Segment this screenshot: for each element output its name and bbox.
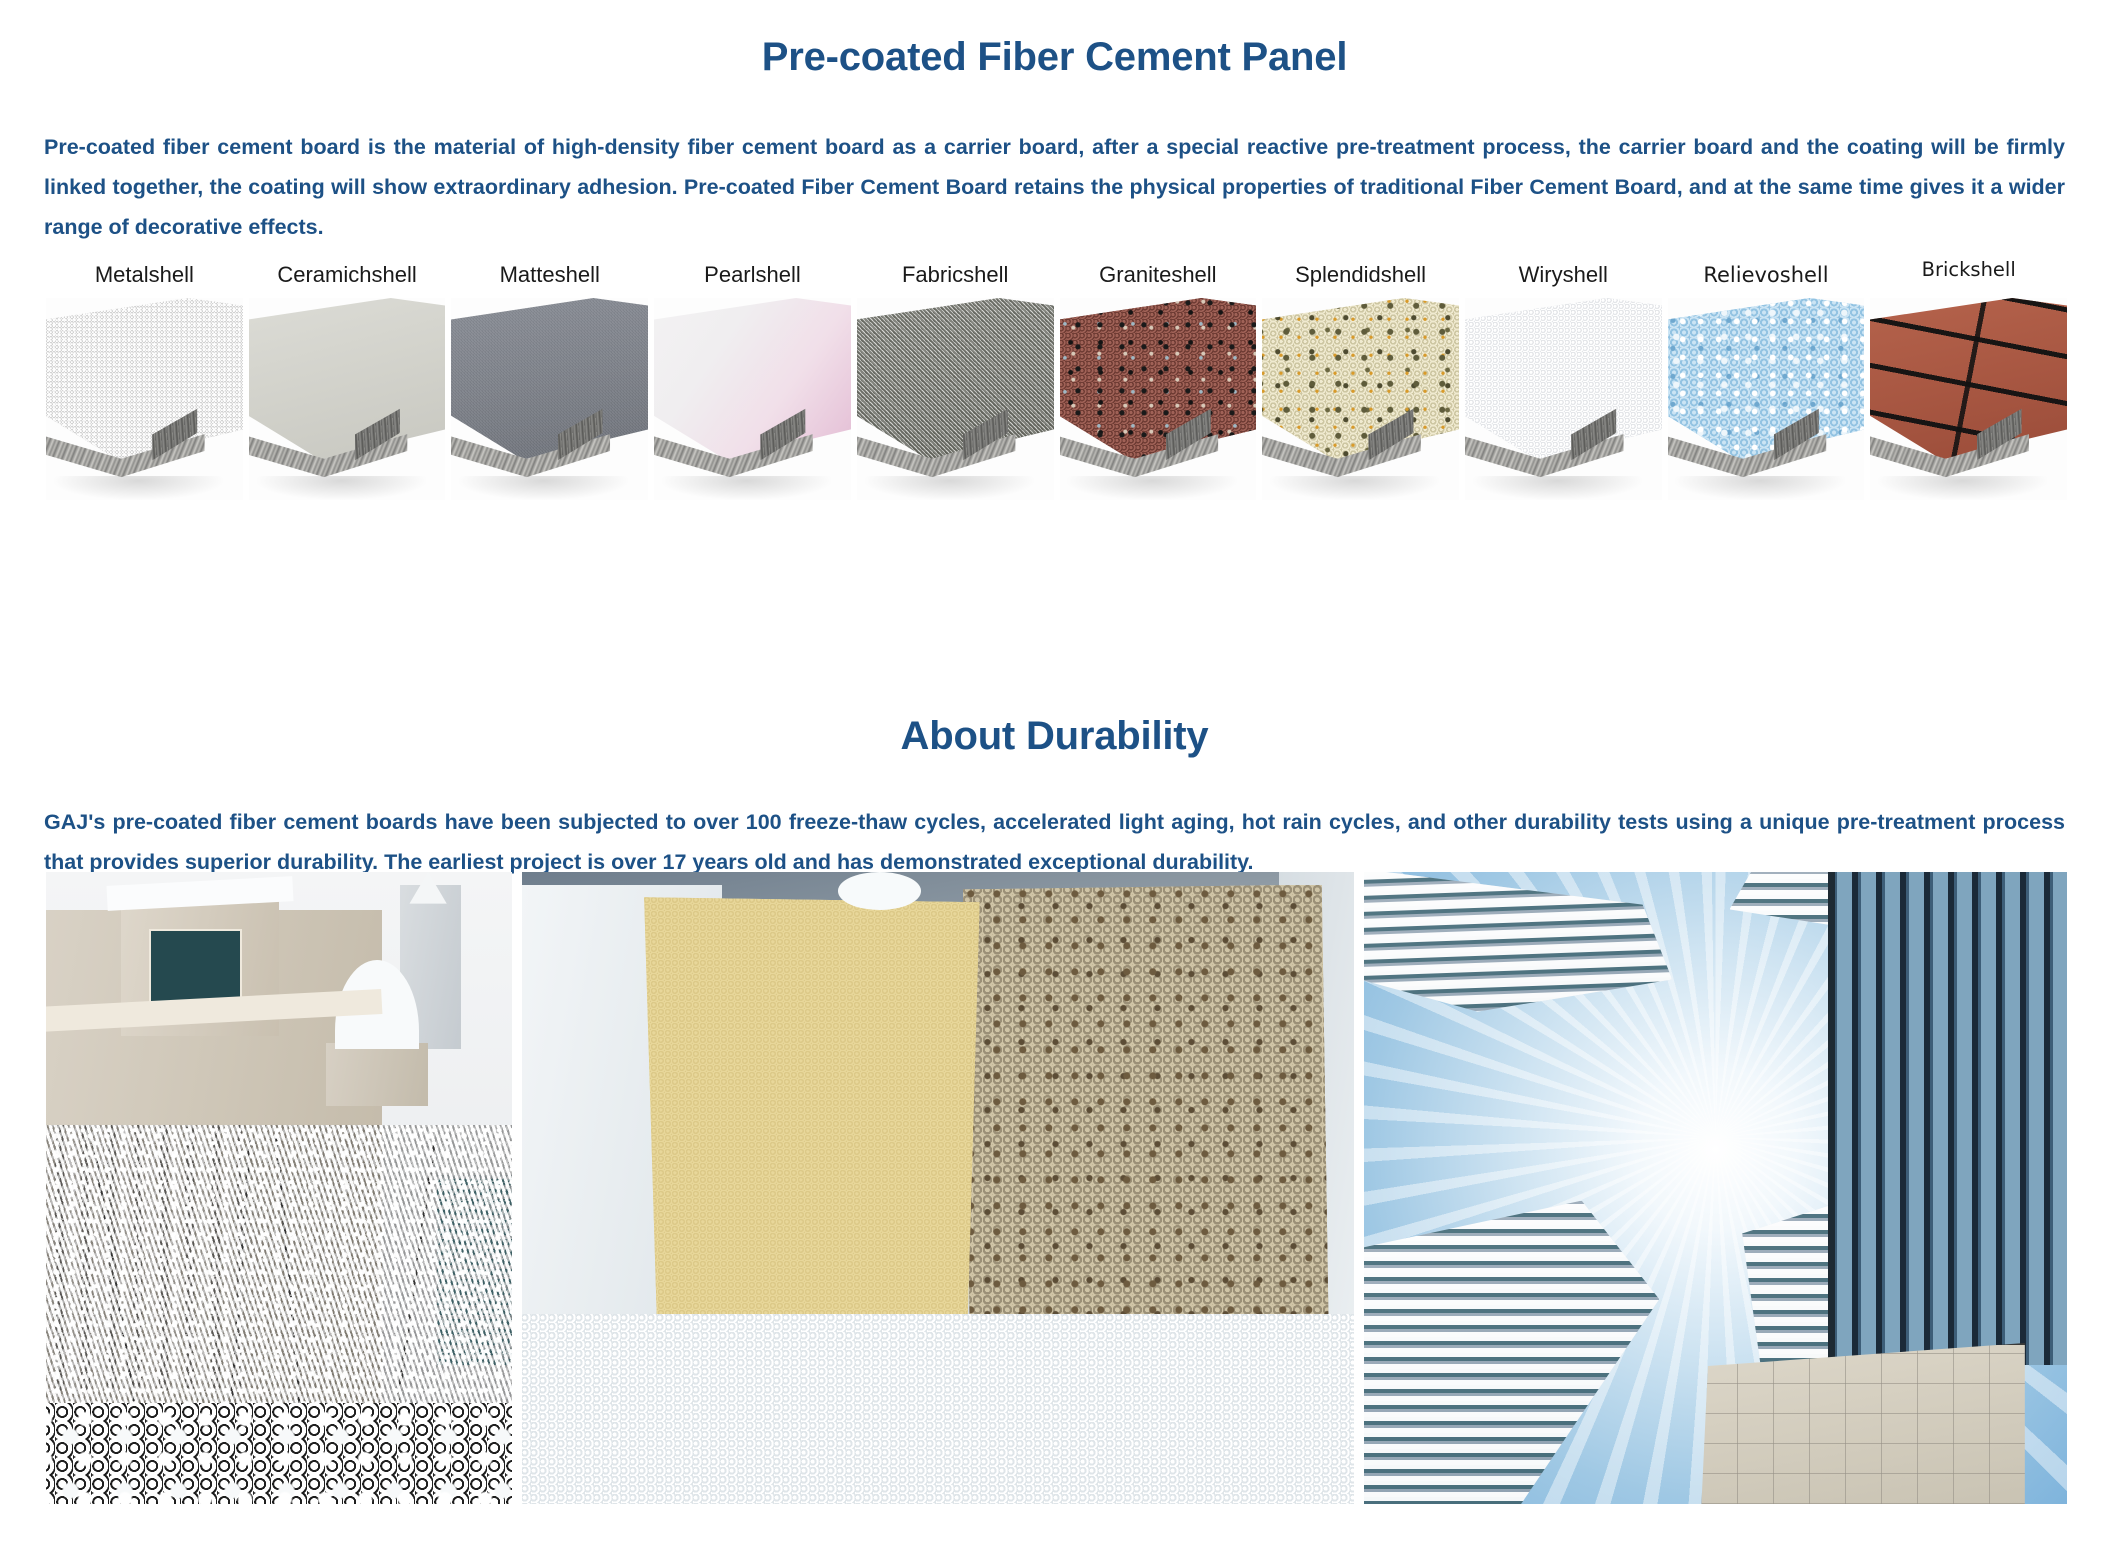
swatch-strip: Metalshell Ceramichshell Matteshell xyxy=(46,262,2067,552)
photo-snow-covered-building xyxy=(46,872,512,1504)
swatch-label: Relievoshell xyxy=(1703,262,1828,292)
swatch-wiryshell[interactable]: Wiryshell xyxy=(1465,262,1662,500)
panel-face xyxy=(46,298,243,460)
panel-shadow xyxy=(1473,476,1642,500)
swatch-graniteshell[interactable]: Graniteshell xyxy=(1060,262,1257,500)
frost-floor xyxy=(522,1314,1354,1504)
panel-photo-splendidshell xyxy=(1262,298,1459,500)
tiled-balcony-floor xyxy=(1701,1340,2024,1504)
swatch-fabricshell[interactable]: Fabricshell xyxy=(857,262,1054,500)
dome-base xyxy=(326,1043,429,1106)
panel-shadow xyxy=(257,476,426,500)
panel-shadow xyxy=(865,476,1034,500)
panel-face xyxy=(1870,298,2067,460)
swatch-label: Graniteshell xyxy=(1099,262,1216,292)
panel-face xyxy=(1668,298,1865,460)
panel-shadow xyxy=(54,476,223,500)
panel-face xyxy=(1465,298,1662,460)
swatch-matteshell[interactable]: Matteshell xyxy=(451,262,648,500)
panel-photo-fabricshell xyxy=(857,298,1054,500)
panel-face xyxy=(1262,298,1459,460)
swatch-ceramichshell[interactable]: Ceramichshell xyxy=(249,262,446,500)
swatch-label: Matteshell xyxy=(500,262,600,292)
photo-highrise-sky xyxy=(1364,872,2067,1504)
attic-window xyxy=(149,929,242,1005)
panel-shadow xyxy=(459,476,628,500)
panel-photo-brickshell xyxy=(1870,298,2067,500)
panel-photo-pearlshell xyxy=(654,298,851,500)
panel-photo-relievoshell xyxy=(1668,298,1865,500)
swatch-label: Fabricshell xyxy=(902,262,1008,292)
panel-photo-wiryshell xyxy=(1465,298,1662,500)
swatch-label: Brickshell xyxy=(1922,257,2016,287)
panel-face xyxy=(451,298,648,460)
swatch-brickshell[interactable]: Brickshell xyxy=(1870,262,2067,500)
panel-photo-graniteshell xyxy=(1060,298,1257,500)
swatch-label: Metalshell xyxy=(95,262,194,292)
page-root: Pre-coated Fiber Cement Panel Pre-coated… xyxy=(0,0,2109,1565)
panel-face xyxy=(654,298,851,460)
swatch-label: Splendidshell xyxy=(1295,262,1426,292)
panel-face xyxy=(1060,298,1257,460)
swatch-relievoshell[interactable]: Relievoshell xyxy=(1668,262,1865,500)
swatch-pearlshell[interactable]: Pearlshell xyxy=(654,262,851,500)
durability-title: About Durability xyxy=(0,712,2109,760)
panel-photo-matteshell xyxy=(451,298,648,500)
glass-facade-frame xyxy=(1828,872,2067,1365)
swatch-label: Wiryshell xyxy=(1519,262,1608,292)
panel-face xyxy=(857,298,1054,460)
panel-shadow xyxy=(1067,476,1236,500)
intro-paragraph: Pre-coated fiber cement board is the mat… xyxy=(44,127,2065,247)
page-title: Pre-coated Fiber Cement Panel xyxy=(0,33,2109,81)
panel-photo-metalshell xyxy=(46,298,243,500)
swatch-metalshell[interactable]: Metalshell xyxy=(46,262,243,500)
swatch-splendidshell[interactable]: Splendidshell xyxy=(1262,262,1459,500)
uncoated-stone-panel xyxy=(963,885,1329,1365)
panel-shadow xyxy=(1675,476,1844,500)
panel-photo-ceramichshell xyxy=(249,298,446,500)
durability-paragraph: GAJ's pre-coated fiber cement boards hav… xyxy=(44,802,2065,882)
photo-freeze-thaw-test xyxy=(522,872,1354,1504)
snow-covered-shrubs xyxy=(46,1403,512,1504)
frost-clump xyxy=(838,872,921,910)
panel-face xyxy=(249,298,446,460)
swatch-label: Pearlshell xyxy=(704,262,801,292)
durability-gallery xyxy=(46,872,2067,1504)
panel-shadow xyxy=(1878,476,2047,500)
panel-shadow xyxy=(662,476,831,500)
swatch-label: Ceramichshell xyxy=(277,262,416,292)
brick-head-joints xyxy=(1870,298,2067,460)
panel-shadow xyxy=(1270,476,1439,500)
